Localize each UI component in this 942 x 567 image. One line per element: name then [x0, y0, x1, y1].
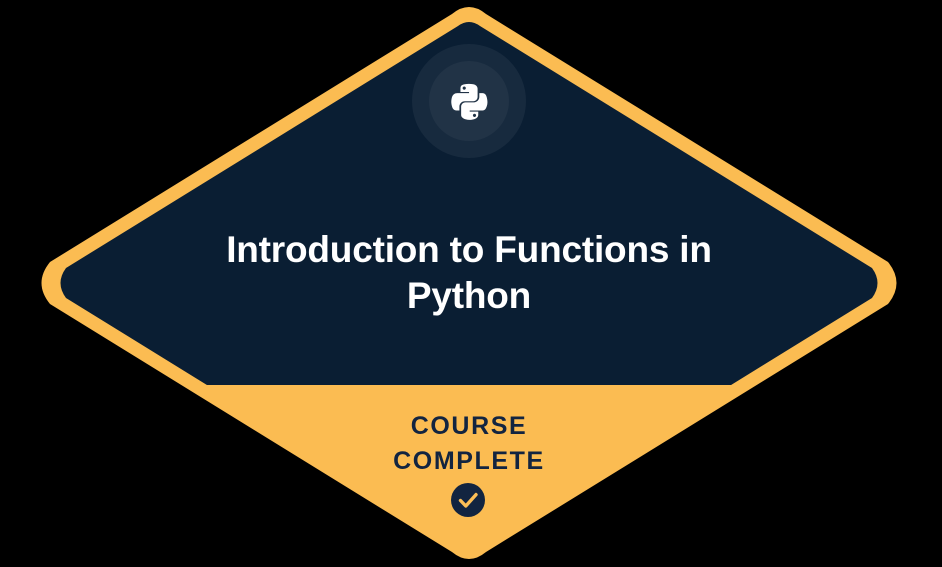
check-circle-icon [451, 483, 485, 517]
badge-stage: Introduction to Functions in Python COUR… [0, 0, 942, 567]
stamp-line-2: COMPLETE [393, 447, 545, 475]
badge-title-line-2: Python [407, 275, 531, 316]
course-completion-badge[interactable]: Introduction to Functions in Python COUR… [0, 0, 942, 567]
badge-title-line-1: Introduction to Functions in [226, 229, 712, 270]
stamp-line-1: COURSE [411, 412, 528, 440]
